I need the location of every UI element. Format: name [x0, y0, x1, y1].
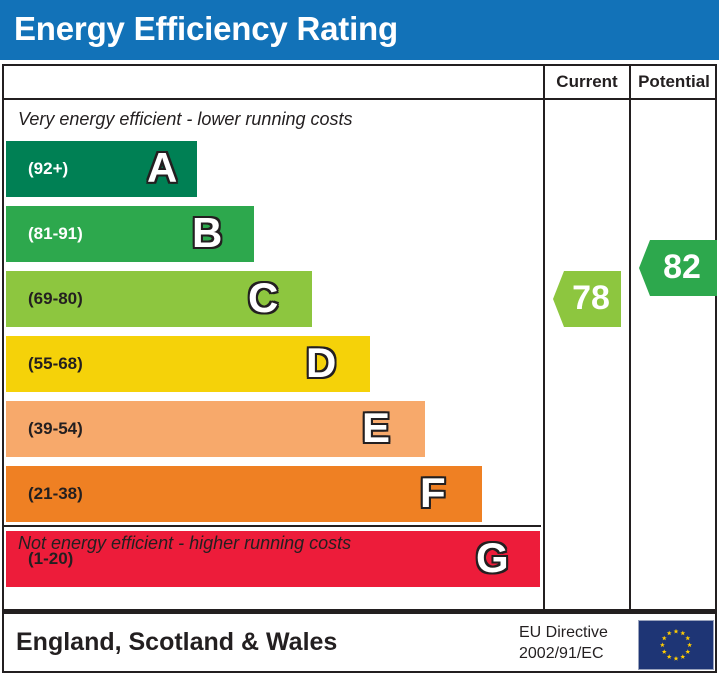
page-title: Energy Efficiency Rating	[14, 7, 398, 51]
footer-eu-directive-line2: 2002/91/EC	[519, 643, 608, 664]
band-f-range: (21-38)	[28, 466, 83, 522]
band-c-range: (69-80)	[28, 271, 83, 327]
band-b: (81-91) B	[6, 206, 254, 262]
band-e: (39-54) E	[6, 401, 425, 457]
current-rating-value: 78	[553, 271, 621, 327]
energy-efficiency-rating-chart: Energy Efficiency Rating Current Potenti…	[0, 0, 719, 675]
potential-rating-value: 82	[639, 240, 717, 296]
current-rating-arrow: 78	[553, 271, 621, 327]
potential-rating-arrow: 82	[639, 240, 717, 296]
footer-bar: England, Scotland & Wales EU Directive 2…	[2, 611, 717, 673]
band-f: (21-38) F	[6, 466, 482, 522]
band-d-range: (55-68)	[28, 336, 83, 392]
band-a-range: (92+)	[28, 141, 68, 197]
column-divider-current	[543, 100, 545, 609]
band-c: (69-80) C	[6, 271, 312, 327]
footer-eu-directive: EU Directive 2002/91/EC	[519, 622, 608, 664]
footer-eu-directive-line1: EU Directive	[519, 622, 608, 643]
band-a: (92+) A	[6, 141, 197, 197]
eu-flag-icon	[638, 620, 714, 670]
band-b-letter: B	[192, 206, 222, 262]
band-d-letter: D	[306, 336, 336, 392]
band-d: (55-68) D	[6, 336, 370, 392]
bottom-caption-separator	[4, 525, 541, 527]
band-bars: (92+) A (81-91) B (69-80) C (55-68) D (3…	[4, 66, 541, 609]
chart-frame: Current Potential Very energy efficient …	[2, 64, 717, 611]
band-g-letter: G	[476, 531, 509, 587]
column-divider-potential	[629, 100, 631, 609]
title-bar: Energy Efficiency Rating	[0, 0, 719, 60]
band-f-letter: F	[420, 466, 446, 522]
band-b-range: (81-91)	[28, 206, 83, 262]
footer-region-label: England, Scotland & Wales	[16, 624, 337, 660]
caption-not-efficient: Not energy efficient - higher running co…	[18, 533, 351, 554]
column-header-current: Current	[543, 66, 629, 98]
band-e-letter: E	[362, 401, 390, 457]
band-e-range: (39-54)	[28, 401, 83, 457]
band-a-letter: A	[147, 141, 177, 197]
column-header-potential: Potential	[629, 66, 717, 98]
band-c-letter: C	[248, 271, 278, 327]
